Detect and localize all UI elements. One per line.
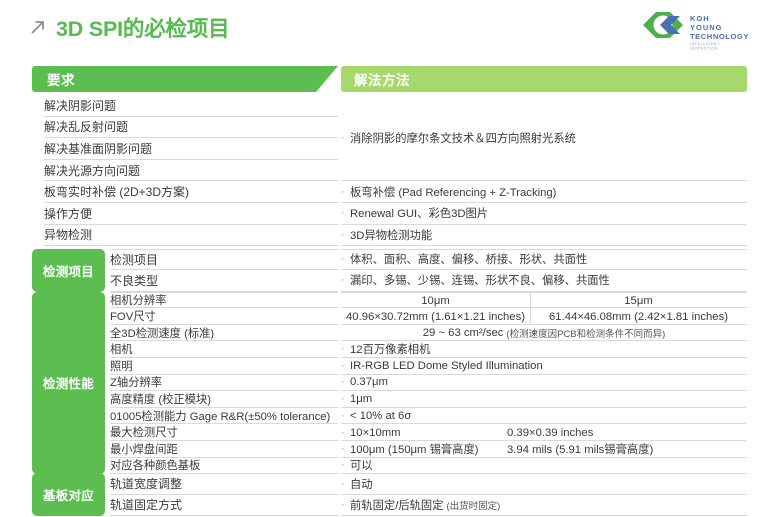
svg-text:TECHNOLOGY: TECHNOLOGY xyxy=(690,32,749,41)
cell-text: Renewal GUI、彩色3D图片 xyxy=(350,205,488,221)
section-row-value: 10μm15μm xyxy=(341,292,747,309)
section-row-item: 轨道宽度调整 xyxy=(110,473,338,495)
section-row-item: FOV尺寸 xyxy=(110,308,338,325)
section-row-item: 检测项目 xyxy=(110,249,338,271)
cell-text: 漏印、多锡、少锡、连锡、形状不良、偏移、共面性 xyxy=(350,272,610,288)
section-row-value: ·体积、面积、高度、偏移、桥接、形状、共面性 xyxy=(341,249,747,271)
section-label-inspection-items: 检测项目 xyxy=(32,249,105,292)
header-solutions-label: 解法方法 xyxy=(354,69,410,89)
svg-text:YOUNG: YOUNG xyxy=(690,23,723,32)
section-row-item-label: 01005检测能力 Gage R&R(±50% tolerance) xyxy=(110,408,330,424)
requirement-row: 操作方便 xyxy=(44,203,338,225)
section-row-value: 29 ~ 63 cm²/sec (检测速度因PCB和检测条件不同而异) xyxy=(341,325,747,342)
section-row-item: 全3D检测速度 (标准) xyxy=(110,325,338,342)
cell-text: 12百万像素相机 xyxy=(350,341,430,357)
cell-text: 前轨固定/后轨固定 xyxy=(350,497,444,513)
section-label-inspection-performance: 检测性能 xyxy=(32,292,105,475)
section-row-value: ·< 10% at 6σ xyxy=(341,408,747,425)
value-metric: ·10×10mm xyxy=(341,425,530,442)
section-row-item-label: Z轴分辨率 xyxy=(110,374,162,390)
section-row-item: 最小焊盘间距 xyxy=(110,441,338,458)
bullet-marker: · xyxy=(341,360,350,372)
section-row-item-label: 相机 xyxy=(110,341,133,357)
bullet-marker: · xyxy=(341,499,350,511)
solution-row: ·消除阴影的摩尔条文技术＆四方向照射光系统 xyxy=(341,95,747,181)
bullet-marker: · xyxy=(341,229,350,241)
section-row-value: ·0.37μm xyxy=(341,375,747,392)
page-title: 3D SPI的必检项目 xyxy=(56,12,229,43)
requirement-label: 解决乱反射问题 xyxy=(44,118,128,135)
section-row-item-label: 检测项目 xyxy=(110,251,158,268)
section-row-value: 40.96×30.72mm (1.61×1.21 inches)61.44×46… xyxy=(341,308,747,325)
value-imperial: 3.94 mils (5.91 mils锡膏高度) xyxy=(507,441,747,458)
section-row-item-label: 轨道固定方式 xyxy=(110,496,182,513)
requirement-label: 板弯实时补偿 (2D+3D方案) xyxy=(44,183,189,200)
section-row-item-label: 照明 xyxy=(110,358,133,374)
requirement-row: 解决基准面阴影问题 xyxy=(44,138,338,160)
section-row-item-label: 轨道宽度调整 xyxy=(110,475,182,492)
requirement-row: 板弯实时补偿 (2D+3D方案) xyxy=(44,181,338,203)
page-title-row: 3D SPI的必检项目 xyxy=(28,12,229,43)
section-row-item: Z轴分辨率 xyxy=(110,375,338,392)
cell-text: 1μm xyxy=(350,393,372,405)
cell-text: 0.37μm xyxy=(350,376,388,388)
column-header-15um: 15μm xyxy=(530,293,747,310)
cell-text: 体积、面积、高度、偏移、桥接、形状、共面性 xyxy=(350,251,587,267)
header-requirements: 要求 xyxy=(32,66,338,92)
slide-root: 3D SPI的必检项目 KOH YOUNG TECHNOLOGY INTELLI… xyxy=(0,0,779,517)
cell-text: 可以 xyxy=(350,457,373,473)
bullet-marker: · xyxy=(341,376,350,388)
section-row-item-label: 不良类型 xyxy=(110,272,158,289)
company-logo: KOH YOUNG TECHNOLOGY INTELLIGENT INSPECT… xyxy=(639,8,757,52)
section-row-item-label: FOV尺寸 xyxy=(110,308,156,324)
requirement-label: 操作方便 xyxy=(44,205,92,222)
bullet-marker: · xyxy=(341,207,350,219)
requirement-label: 解决光源方向问题 xyxy=(44,162,140,179)
cell-text: < 10% at 6σ xyxy=(350,410,411,422)
cell-text: 自动 xyxy=(350,476,373,492)
speed-value: 29 ~ 63 cm²/sec xyxy=(423,327,504,339)
section-row-value: ·100μm (150μm 锡膏高度)3.94 mils (5.91 mils锡… xyxy=(341,441,747,458)
section-row-item: 相机分辨率 xyxy=(110,292,338,309)
bullet-marker: · xyxy=(341,478,350,490)
section-row-item-label: 全3D检测速度 (标准) xyxy=(110,325,214,341)
requirement-label: 解决基准面阴影问题 xyxy=(44,140,152,157)
bullet-marker: · xyxy=(341,427,350,439)
fov-value-15um: 61.44×46.08mm (2.42×1.81 inches) xyxy=(530,308,747,325)
speed-value-note: (检测速度因PCB和检测条件不同而异) xyxy=(506,326,665,340)
section-label-board-support: 基板对应 xyxy=(32,473,105,516)
bullet-marker: · xyxy=(341,443,350,455)
requirement-row: 解决乱反射问题 xyxy=(44,117,338,139)
bullet-marker: · xyxy=(341,393,350,405)
section-row-item: 对应各种颜色基板 xyxy=(110,458,338,475)
bullet-marker: · xyxy=(341,343,350,355)
section-row-item-label: 最大检测尺寸 xyxy=(110,424,178,440)
requirement-label: 异物检测 xyxy=(44,226,92,243)
section-row-item: 不良类型 xyxy=(110,270,338,292)
svg-text:KOH: KOH xyxy=(690,14,710,23)
solution-row: ·Renewal GUI、彩色3D图片 xyxy=(341,203,747,225)
value-imperial: 0.39×0.39 inches xyxy=(507,425,747,442)
requirement-row: 异物检测 xyxy=(44,225,338,247)
header-solutions: 解法方法 xyxy=(341,66,747,92)
fov-value-10um: 40.96×30.72mm (1.61×1.21 inches) xyxy=(341,308,530,325)
value-metric: ·100μm (150μm 锡膏高度) xyxy=(341,441,530,458)
section-row-value: ·前轨固定/后轨固定 (出货时固定) xyxy=(341,495,747,517)
bullet-marker: · xyxy=(341,253,350,265)
section-row-item: 照明 xyxy=(110,358,338,375)
section-row-item-label: 高度精度 (校正模块) xyxy=(110,391,211,407)
solution-row: ·3D异物检测功能 xyxy=(341,225,747,247)
section-row-value: ·10×10mm0.39×0.39 inches xyxy=(341,425,747,442)
bullet-marker: · xyxy=(341,459,350,471)
cell-text: 消除阴影的摩尔条文技术＆四方向照射光系统 xyxy=(350,130,576,146)
svg-text:INTELLIGENT: INTELLIGENT xyxy=(690,42,720,46)
header-requirements-label: 要求 xyxy=(47,66,75,92)
section-row-item: 01005检测能力 Gage R&R(±50% tolerance) xyxy=(110,408,338,425)
solution-row: ·板弯补偿 (Pad Referencing + Z-Tracking) xyxy=(341,181,747,203)
section-row-value: ·12百万像素相机 xyxy=(341,342,747,359)
bullet-marker: · xyxy=(341,274,350,286)
section-row-item: 轨道固定方式 xyxy=(110,495,338,517)
cell-subtext: (出货时固定) xyxy=(447,498,501,512)
requirement-row: 解决阴影问题 xyxy=(44,95,338,117)
section-row-item-label: 对应各种颜色基板 xyxy=(110,457,200,473)
section-row-value: ·自动 xyxy=(341,473,747,495)
svg-text:INSPECTION: INSPECTION xyxy=(690,47,718,51)
bullet-marker: · xyxy=(341,410,350,422)
cell-text: 100μm (150μm 锡膏高度) xyxy=(350,441,479,457)
cell-text: 板弯补偿 (Pad Referencing + Z-Tracking) xyxy=(350,184,556,200)
requirement-row: 解决光源方向问题 xyxy=(44,160,338,182)
section-row-item: 高度精度 (校正模块) xyxy=(110,391,338,408)
cell-text: IR-RGB LED Dome Styled Illumination xyxy=(350,360,543,372)
section-row-value: ·1μm xyxy=(341,391,747,408)
section-row-item-label: 相机分辨率 xyxy=(110,292,167,308)
section-row-value: ·漏印、多锡、少锡、连锡、形状不良、偏移、共面性 xyxy=(341,270,747,292)
section-row-item: 最大检测尺寸 xyxy=(110,425,338,442)
bullet-marker: · xyxy=(341,132,350,144)
requirement-label: 解决阴影问题 xyxy=(44,97,116,114)
section-row-value: ·可以 xyxy=(341,458,747,475)
bullet-marker: · xyxy=(341,186,350,198)
section-row-item-label: 最小焊盘间距 xyxy=(110,441,178,457)
section-row-value: ·IR-RGB LED Dome Styled Illumination xyxy=(341,358,747,375)
cell-text: 3D异物检测功能 xyxy=(350,227,432,243)
column-header-10um: 10μm xyxy=(341,293,530,310)
cell-text: 10×10mm xyxy=(350,427,401,439)
arrow-up-right-icon xyxy=(28,18,47,37)
section-row-item: 相机 xyxy=(110,342,338,359)
